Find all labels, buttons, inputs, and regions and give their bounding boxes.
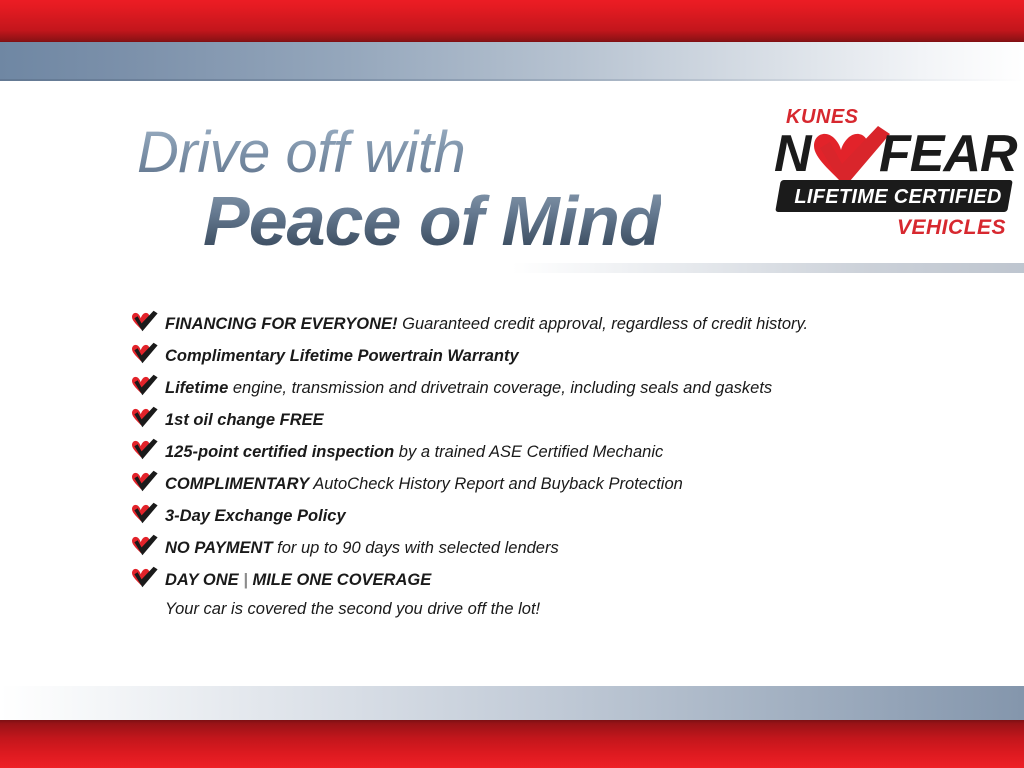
list-item-text: Lifetime engine, transmission and drivet… (165, 379, 772, 397)
check-icon (131, 342, 159, 364)
headline-line-1: Drive off with (137, 124, 661, 182)
check-icon (131, 502, 159, 524)
list-item: 125-point certified inspection by a trai… (131, 436, 951, 468)
list-item-rest: AutoCheck History Report and Buyback Pro… (309, 475, 683, 493)
check-icon (131, 438, 159, 460)
check-icon (131, 470, 159, 492)
list-item-rest: engine, transmission and drivetrain cove… (228, 379, 772, 397)
list-item-strong: Lifetime (165, 379, 228, 397)
bottom-red-band (0, 720, 1024, 768)
list-item-strong: DAY ONE (165, 571, 239, 589)
check-icon (131, 374, 159, 396)
check-icon (131, 406, 159, 428)
list-item-strong: NO PAYMENT (165, 539, 273, 557)
list-item-text: DAY ONE | MILE ONE COVERAGE (165, 571, 431, 589)
list-item-text: 1st oil change FREE (165, 411, 324, 429)
check-icon (131, 534, 159, 556)
list-item-subtext: Your car is covered the second you drive… (131, 596, 951, 622)
list-item-strong-2: MILE ONE COVERAGE (252, 571, 431, 589)
list-item-text: Complimentary Lifetime Powertrain Warran… (165, 347, 519, 365)
list-item: 3-Day Exchange Policy (131, 500, 951, 532)
headline-divider (512, 263, 1024, 273)
headline-line-2: Peace of Mind (203, 186, 661, 256)
logo-lifetime-certified-text: LIFETIME CERTIFIED (788, 184, 1008, 210)
list-item: Complimentary Lifetime Powertrain Warran… (131, 340, 951, 372)
list-item-rest: by a trained ASE Certified Mechanic (394, 443, 663, 461)
list-item: NO PAYMENT for up to 90 days with select… (131, 532, 951, 564)
list-item-rest: for up to 90 days with selected lenders (273, 539, 559, 557)
list-item: COMPLIMENTARY AutoCheck History Report a… (131, 468, 951, 500)
list-item: DAY ONE | MILE ONE COVERAGE (131, 564, 951, 596)
promo-banner-page: Drive off with Peace of Mind KUNES N FEA… (0, 0, 1024, 768)
check-icon (131, 310, 159, 332)
list-item: FINANCING FOR EVERYONE! Guaranteed credi… (131, 308, 951, 340)
bottom-gray-gradient-band (0, 686, 1024, 720)
list-item-separator: | (239, 571, 253, 589)
logo-letter-n: N (774, 128, 811, 180)
list-item-strong: COMPLIMENTARY (165, 475, 309, 493)
headline-block: Drive off with Peace of Mind (137, 124, 661, 256)
logo-nofear-row: N FEAR (772, 128, 1012, 184)
list-item-strong: 1st oil change FREE (165, 411, 324, 429)
list-item-text: FINANCING FOR EVERYONE! Guaranteed credi… (165, 315, 808, 333)
list-item-strong: 3-Day Exchange Policy (165, 507, 346, 525)
kunes-no-fear-logo: KUNES N FEAR LIFETIME CERTIFIED VEHICLES (772, 106, 1012, 254)
list-item-strong: 125-point certified inspection (165, 443, 394, 461)
logo-word-fear: FEAR (879, 128, 1017, 180)
list-item-text: 125-point certified inspection by a trai… (165, 443, 663, 461)
list-item-text: COMPLIMENTARY AutoCheck History Report a… (165, 475, 683, 493)
list-item-text: NO PAYMENT for up to 90 days with select… (165, 539, 559, 557)
list-item: Lifetime engine, transmission and drivet… (131, 372, 951, 404)
logo-word-vehicles: VEHICLES (897, 216, 1006, 240)
list-item-text: 3-Day Exchange Policy (165, 507, 346, 525)
list-item-rest: Guaranteed credit approval, regardless o… (398, 315, 809, 333)
list-item: 1st oil change FREE (131, 404, 951, 436)
benefits-list: FINANCING FOR EVERYONE! Guaranteed credi… (131, 308, 951, 622)
top-red-band (0, 0, 1024, 42)
check-icon (131, 566, 159, 588)
top-gray-gradient-band (0, 42, 1024, 81)
list-item-strong: Complimentary Lifetime Powertrain Warran… (165, 347, 519, 365)
list-item-strong: FINANCING FOR EVERYONE! (165, 315, 398, 333)
